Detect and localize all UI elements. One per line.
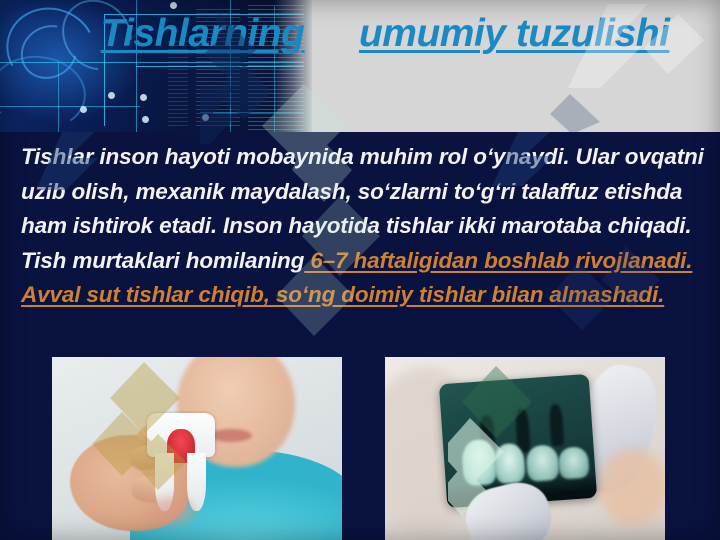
body-paragraph: Tishlar inson hayoti mobaynida muhim rol…: [21, 140, 707, 313]
page-title-line-2: umumiy tuzulishi: [359, 6, 670, 62]
title-block: Tishlarning umumiy tuzulishi: [0, 0, 720, 132]
page-title-line-1: Tishlarning: [101, 6, 305, 62]
hand-skin-blur: [599, 449, 665, 525]
thumb-blur: [148, 497, 194, 525]
header-band: Tishlarning umumiy tuzulishi: [0, 0, 720, 132]
dentist-photo: [52, 357, 342, 540]
tooth-model: [145, 413, 217, 509]
xray-photo: [385, 357, 665, 540]
slide-canvas: Tishlarning umumiy tuzulishi Tishlar ins…: [0, 0, 720, 540]
